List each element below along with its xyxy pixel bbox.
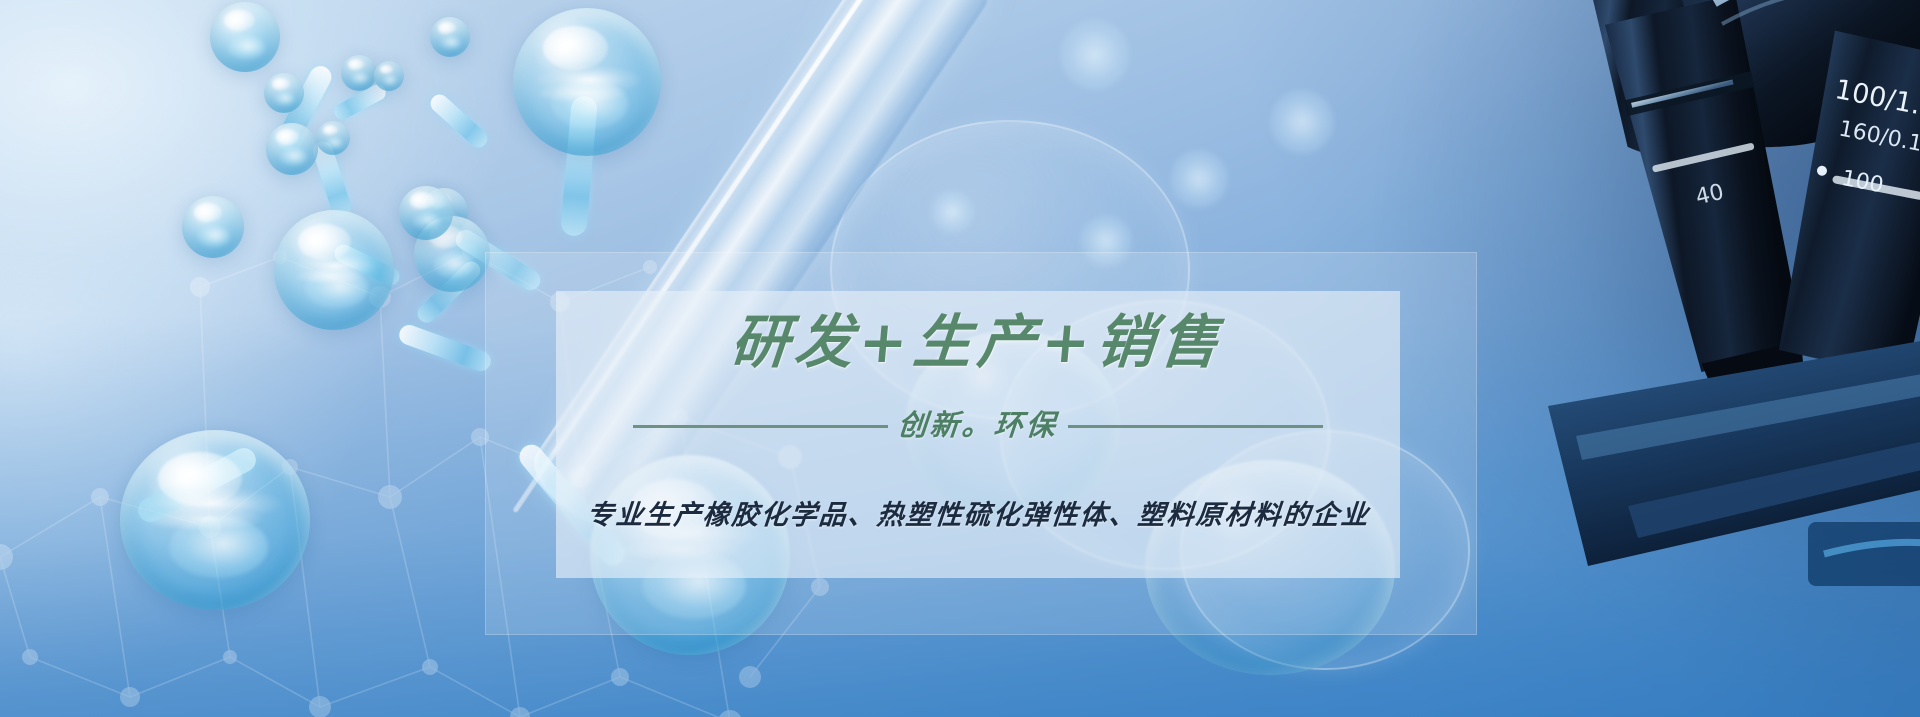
molecule-sphere-15 xyxy=(399,186,453,240)
hero-banner: 40 100/1.25 160/0.17 100 xyxy=(0,0,1920,717)
banner-content: 研发+生产+销售 创新。环保 专业生产橡胶化学品、热塑性硫化弹性体、塑料原材料的… xyxy=(556,291,1400,578)
molecule-sphere-12 xyxy=(182,196,244,258)
divider-line-right xyxy=(1068,425,1323,428)
sub-label-divider-row: 创新。环保 xyxy=(556,405,1400,447)
bokeh-light-2 xyxy=(1170,150,1228,208)
molecule-sphere-10 xyxy=(274,210,394,330)
bokeh-light-5 xyxy=(930,190,974,234)
microscope-objective-lens: 40 100/1.25 160/0.17 100 xyxy=(1478,0,1920,586)
divider-line-left xyxy=(633,425,888,428)
bokeh-light-4 xyxy=(1270,90,1334,154)
molecule-sphere-8 xyxy=(513,8,661,156)
molecule-sphere-13 xyxy=(120,430,310,610)
molecule-sphere-1 xyxy=(210,2,280,72)
bokeh-light-1 xyxy=(1060,20,1130,90)
banner-tagline: 专业生产橡胶化学品、热塑性硫化弹性体、塑料原材料的企业 xyxy=(585,493,1371,532)
molecule-sphere-7 xyxy=(430,17,470,57)
molecule-sphere-3 xyxy=(266,123,318,175)
banner-headline: 研发+生产+销售 xyxy=(729,313,1227,371)
molecule-sphere-2 xyxy=(264,73,304,113)
molecule-sphere-5 xyxy=(374,61,404,91)
banner-sub-label: 创新。环保 xyxy=(886,402,1070,444)
molecule-sphere-6 xyxy=(316,121,350,155)
molecule-sphere-4 xyxy=(341,55,377,91)
